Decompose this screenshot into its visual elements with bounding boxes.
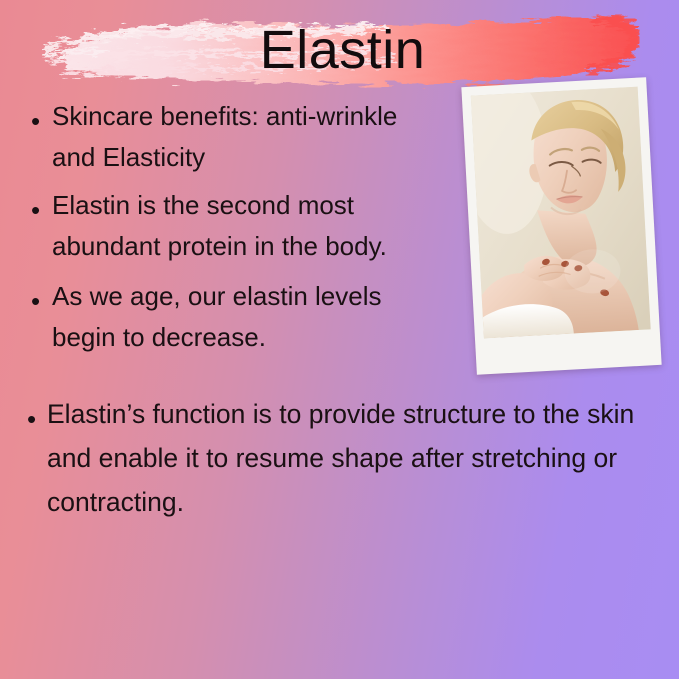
list-item-text: As we age, our elastin levels begin to d…	[52, 281, 382, 352]
list-item: • Elastin’s function is to provide struc…	[0, 392, 679, 524]
bullet-marker: •	[31, 288, 40, 314]
list-item: • Skincare benefits: anti-wrinkle and El…	[0, 96, 430, 178]
spacer	[0, 178, 679, 185]
spacer	[0, 358, 679, 392]
list-item: • Elastin is the second most abundant pr…	[0, 185, 430, 267]
bullet-marker: •	[31, 197, 40, 223]
bullet-marker: •	[31, 108, 40, 134]
list-item-text: Elastin is the second most abundant prot…	[52, 190, 387, 261]
presentation-slide: Elastin	[0, 0, 679, 679]
list-item-text: Elastin’s function is to provide structu…	[47, 399, 634, 517]
bullet-marker: •	[27, 406, 36, 432]
spacer	[0, 267, 679, 276]
bullet-list: • Skincare benefits: anti-wrinkle and El…	[0, 96, 679, 524]
page-title: Elastin	[0, 22, 679, 79]
list-item-text: Skincare benefits: anti-wrinkle and Elas…	[52, 101, 397, 172]
list-item: • As we age, our elastin levels begin to…	[0, 276, 430, 358]
